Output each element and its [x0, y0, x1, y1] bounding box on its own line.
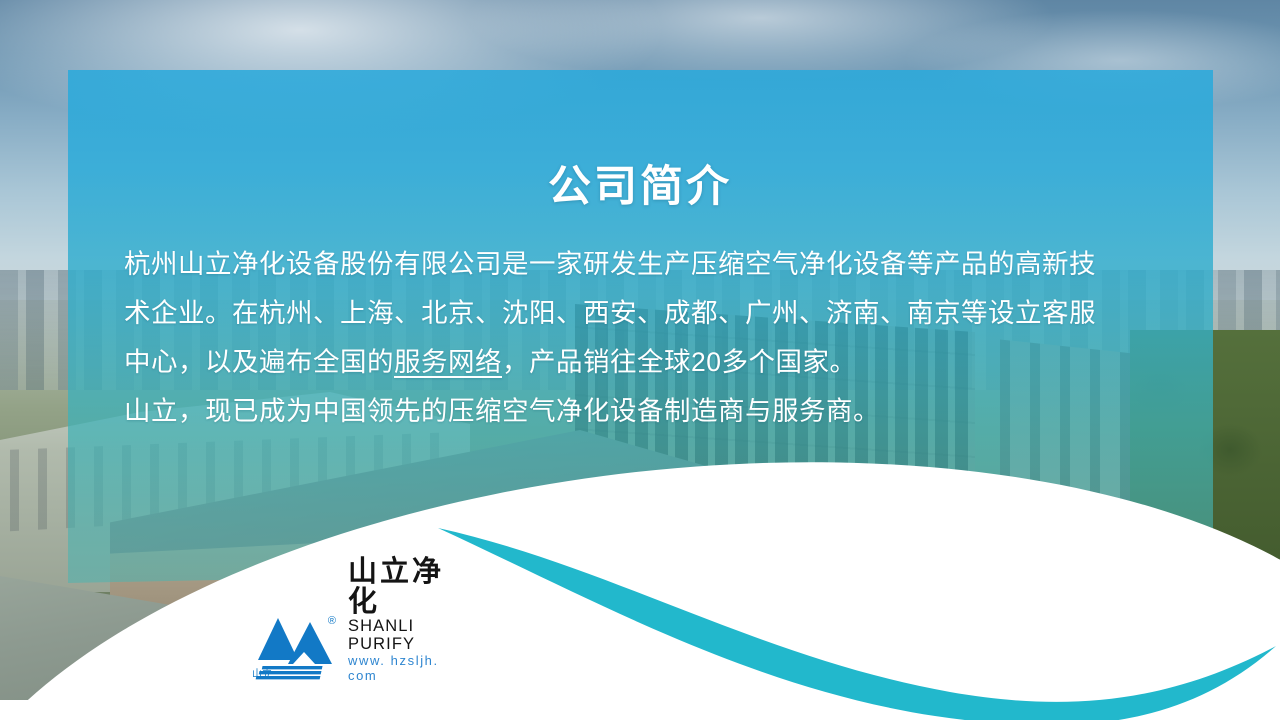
company-website-url: www. hzsljh. com	[348, 653, 467, 683]
body-line-4: 山立，现已成为中国领先的压缩空气净化设备制造商与服务商。	[124, 387, 1104, 436]
footer-base-fill	[0, 700, 1280, 720]
mountain-logo-icon: ® 山立	[252, 612, 338, 684]
wordmark-chinese: 山立净化	[348, 557, 467, 617]
logo-wordmark: 山立净化 SHANLI PURIFY www. hzsljh. com	[348, 557, 467, 684]
body-paragraph: 杭州山立净化设备股份有限公司是一家研发生产压缩空气净化设备等产品的高新技 术企业…	[124, 240, 1104, 436]
wordmark-english: SHANLI PURIFY	[348, 617, 467, 653]
body-line-3-before: 中心，以及遍布全国的	[124, 347, 394, 377]
page-title: 公司简介	[0, 152, 1280, 214]
body-line-3: 中心，以及遍布全国的服务网络，产品销往全球20多个国家。	[124, 338, 1104, 387]
logo-mark-caption: 山立	[252, 670, 272, 680]
body-line-3-after: ，产品销往全球20多个国家。	[502, 347, 856, 377]
body-line-2: 术企业。在杭州、上海、北京、沈阳、西安、成都、广州、济南、南京等设立客服	[124, 289, 1104, 338]
presentation-slide: 公司简介 杭州山立净化设备股份有限公司是一家研发生产压缩空气净化设备等产品的高新…	[0, 0, 1280, 720]
body-line-3-underlined: 服务网络	[394, 347, 502, 377]
registered-trademark-icon: ®	[328, 616, 336, 627]
body-line-1: 杭州山立净化设备股份有限公司是一家研发生产压缩空气净化设备等产品的高新技	[124, 240, 1104, 289]
company-logo: ® 山立 山立净化 SHANLI PURIFY www. hzsljh. com	[252, 606, 467, 684]
